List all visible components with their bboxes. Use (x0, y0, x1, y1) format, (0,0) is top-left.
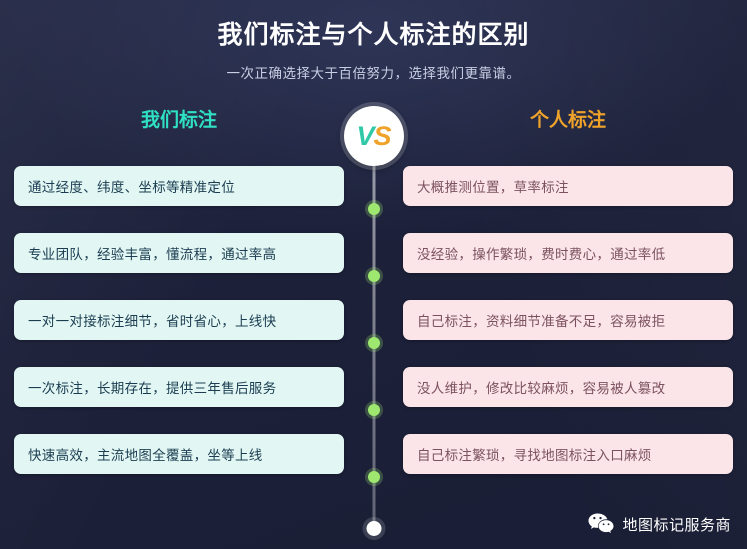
page-title: 我们标注与个人标注的区别 (0, 18, 747, 52)
timeline-dot (368, 270, 380, 282)
footer-text: 地图标记服务商 (622, 514, 731, 535)
right-column: 个人标注 大概推测位置，草率标注 没经验，操作繁琐，费时费心，通过率低 自己标注… (403, 106, 733, 501)
timeline-dot (368, 471, 380, 483)
timeline-dot (368, 337, 380, 349)
list-item: 一对一对接标注细节，省时省心，上线快 (14, 300, 344, 340)
center-timeline: VS (344, 106, 404, 536)
timeline-dot (368, 404, 380, 416)
list-item: 专业团队，经验丰富，懂流程，通过率高 (14, 233, 344, 273)
list-item: 大概推测位置，草率标注 (403, 166, 733, 206)
list-item: 没人维护，修改比较麻烦，容易被人篡改 (403, 367, 733, 407)
timeline-dot (368, 203, 380, 215)
wechat-icon (588, 513, 614, 535)
vs-badge: VS (344, 106, 404, 166)
vs-badge-label: VS (356, 121, 390, 152)
left-column-items: 通过经度、纬度、坐标等精准定位 专业团队，经验丰富，懂流程，通过率高 一对一对接… (14, 166, 344, 474)
timeline-line (372, 136, 375, 528)
list-item: 一次标注，长期存在，提供三年售后服务 (14, 367, 344, 407)
vs-letter-v: V (356, 121, 373, 151)
list-item: 自己标注，资料细节准备不足，容易被拒 (403, 300, 733, 340)
comparison-infographic: 我们标注与个人标注的区别 一次正确选择大于百倍努力，选择我们更靠谱。 我们标注 … (0, 0, 747, 549)
left-column: 我们标注 通过经度、纬度、坐标等精准定位 专业团队，经验丰富，懂流程，通过率高 … (14, 106, 344, 501)
right-column-heading: 个人标注 (403, 106, 733, 136)
header: 我们标注与个人标注的区别 一次正确选择大于百倍努力，选择我们更靠谱。 (0, 0, 747, 82)
right-column-items: 大概推测位置，草率标注 没经验，操作繁琐，费时费心，通过率低 自己标注，资料细节… (403, 166, 733, 474)
page-subtitle: 一次正确选择大于百倍努力，选择我们更靠谱。 (0, 62, 747, 82)
list-item: 没经验，操作繁琐，费时费心，通过率低 (403, 233, 733, 273)
list-item: 快速高效，主流地图全覆盖，坐等上线 (14, 434, 344, 474)
timeline-end-dot (366, 521, 381, 536)
footer-brand: 地图标记服务商 (588, 513, 731, 535)
list-item: 通过经度、纬度、坐标等精准定位 (14, 166, 344, 206)
vs-letter-s: S (374, 121, 391, 151)
left-column-heading: 我们标注 (14, 106, 344, 136)
list-item: 自己标注繁琐，寻找地图标注入口麻烦 (403, 434, 733, 474)
